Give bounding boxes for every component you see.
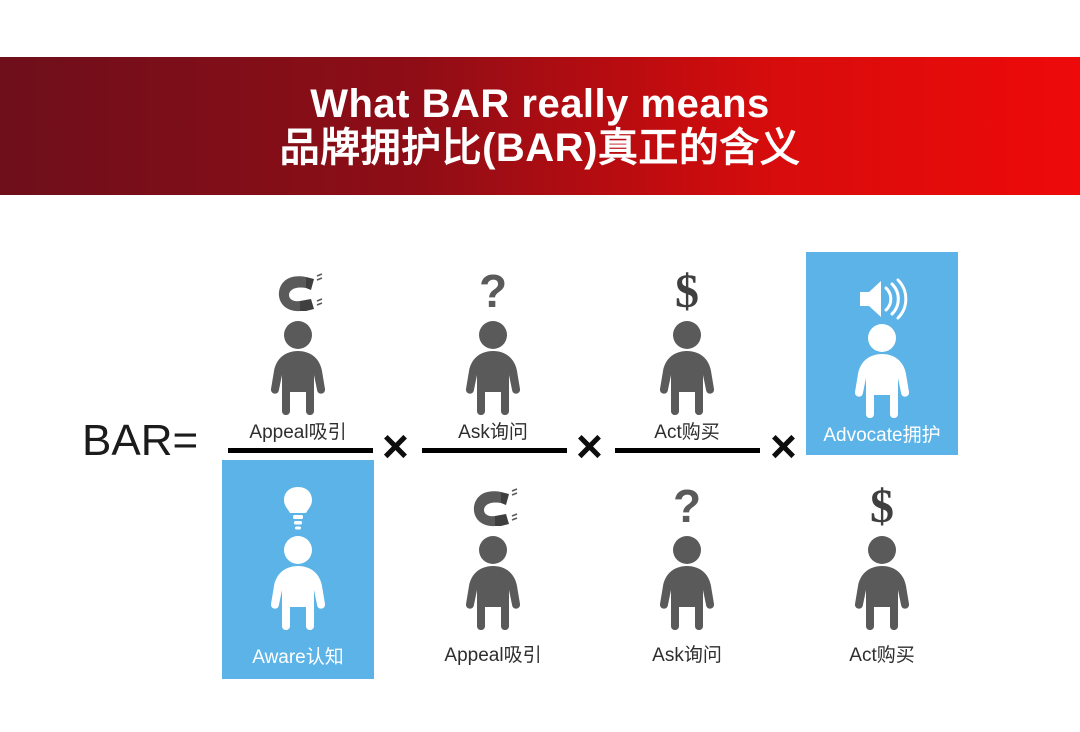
person-figure-icon bbox=[417, 534, 569, 630]
person-figure-icon bbox=[222, 319, 374, 415]
multiply-sign-1: × bbox=[382, 423, 409, 469]
cell-label: Ask询问 bbox=[611, 640, 763, 667]
cell-label: Appeal吸引 bbox=[417, 640, 569, 667]
bar-formula: BAR= × × × Appeal吸引 bbox=[0, 195, 1080, 732]
denominator-cell-ask: ? Ask询问 bbox=[611, 470, 763, 667]
person-figure-icon bbox=[222, 534, 374, 630]
person-figure-icon bbox=[611, 319, 763, 415]
title-english: What BAR really means bbox=[310, 83, 770, 125]
multiply-sign-3: × bbox=[770, 423, 797, 469]
svg-text:?: ? bbox=[673, 484, 701, 532]
numerator-cell-appeal: Appeal吸引 bbox=[222, 255, 374, 444]
person-figure-icon bbox=[806, 322, 958, 418]
denominator-cell-act: $ Act购买 bbox=[806, 470, 958, 667]
cell-label: Advocate拥护 bbox=[806, 420, 958, 447]
cell-label: Ask询问 bbox=[417, 417, 569, 444]
denominator-cell-aware: Aware认知 bbox=[222, 460, 374, 679]
svg-text:$: $ bbox=[870, 482, 894, 533]
lightbulb-icon bbox=[222, 470, 374, 534]
person-figure-icon bbox=[611, 534, 763, 630]
svg-text:$: $ bbox=[675, 267, 699, 318]
magnet-icon bbox=[417, 470, 569, 534]
title-chinese: 品牌拥护比(BAR)真正的含义 bbox=[280, 127, 801, 169]
fraction-bar-1 bbox=[228, 448, 373, 453]
denominator-cell-appeal: Appeal吸引 bbox=[417, 470, 569, 667]
speaker-icon bbox=[806, 258, 958, 322]
person-figure-icon bbox=[417, 319, 569, 415]
dollar-icon: $ bbox=[611, 255, 763, 319]
fraction-bar-3 bbox=[615, 448, 760, 453]
magnet-icon bbox=[222, 255, 374, 319]
title-banner: What BAR really means 品牌拥护比(BAR)真正的含义 bbox=[0, 57, 1080, 195]
numerator-cell-advocate: Advocate拥护 bbox=[806, 252, 958, 455]
numerator-cell-act: $ Act购买 bbox=[611, 255, 763, 444]
cell-label: Aware认知 bbox=[222, 642, 374, 669]
cell-label: Appeal吸引 bbox=[222, 417, 374, 444]
question-icon: ? bbox=[417, 255, 569, 319]
formula-label: BAR= bbox=[82, 416, 198, 466]
cell-label: Act购买 bbox=[611, 417, 763, 444]
person-figure-icon bbox=[806, 534, 958, 630]
numerator-cell-ask: ? Ask询问 bbox=[417, 255, 569, 444]
dollar-icon: $ bbox=[806, 470, 958, 534]
svg-text:?: ? bbox=[479, 269, 507, 317]
fraction-bar-2 bbox=[422, 448, 567, 453]
question-icon: ? bbox=[611, 470, 763, 534]
multiply-sign-2: × bbox=[576, 423, 603, 469]
cell-label: Act购买 bbox=[806, 640, 958, 667]
